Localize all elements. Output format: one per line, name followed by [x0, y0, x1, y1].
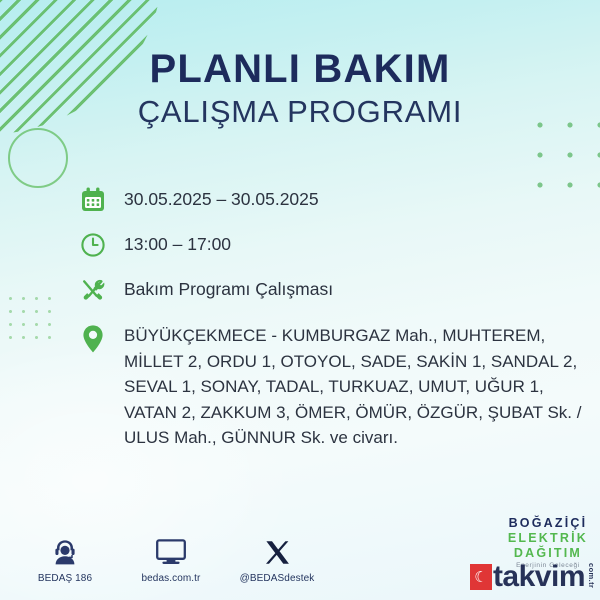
detail-address-text: BÜYÜKÇEKMECE - KUMBURGAZ Mah., MUHTEREM,… [124, 321, 585, 451]
tools-icon [80, 276, 124, 307]
takvim-watermark: ☾ takvim com.tr [470, 563, 596, 590]
brand-line-bogazici: BOĞAZİÇİ [508, 516, 588, 531]
watermark-flag-glyph: ☾ [474, 570, 487, 585]
brand-line-dagitim: DAĞITIM [508, 546, 588, 561]
detail-row-date: 30.05.2025 – 30.05.2025 [80, 186, 585, 217]
page-subtitle: ÇALIŞMA PROGRAMI [0, 94, 600, 131]
x-twitter-icon [238, 535, 316, 569]
planned-maintenance-poster: PLANLI BAKIM ÇALIŞMA PROGRAMI [0, 0, 600, 600]
contact-website[interactable]: bedas.com.tr [132, 535, 210, 584]
brand-line-elektrik: ELEKTRİK [508, 531, 588, 546]
contact-x-label: @BEDASdestek [238, 573, 316, 584]
location-pin-icon [80, 321, 124, 354]
poster-header: PLANLI BAKIM ÇALIŞMA PROGRAMI [0, 48, 600, 131]
detail-row-time: 13:00 – 17:00 [80, 231, 585, 262]
watermark-flag-icon: ☾ [470, 564, 492, 590]
maintenance-details: 30.05.2025 – 30.05.2025 13:00 – 17:00 [80, 186, 585, 465]
detail-date-text: 30.05.2025 – 30.05.2025 [124, 186, 319, 211]
dot-grid-left-decoration [4, 292, 56, 348]
monitor-icon [132, 535, 210, 569]
detail-row-work-type: Bakım Programı Çalışması [80, 276, 585, 307]
contact-call-center[interactable]: BEDAŞ 186 [26, 535, 104, 584]
contact-x-account[interactable]: @BEDASdestek [238, 535, 316, 584]
contact-website-label: bedas.com.tr [132, 573, 210, 584]
page-title: PLANLI BAKIM [0, 48, 600, 90]
watermark-tld: com.tr [587, 563, 596, 590]
contact-channels: BEDAŞ 186 bedas.com.tr [26, 535, 316, 584]
headset-support-icon [26, 535, 104, 569]
circle-outline-decoration [8, 128, 68, 188]
poster-footer: BEDAŞ 186 bedas.com.tr [0, 520, 600, 594]
calendar-icon [80, 186, 124, 217]
watermark-text: takvim [493, 564, 585, 590]
contact-call-center-label: BEDAŞ 186 [26, 573, 104, 584]
detail-work-type-text: Bakım Programı Çalışması [124, 276, 333, 301]
detail-time-text: 13:00 – 17:00 [124, 231, 231, 256]
detail-row-address: BÜYÜKÇEKMECE - KUMBURGAZ Mah., MUHTEREM,… [80, 321, 585, 451]
clock-icon [80, 231, 124, 262]
